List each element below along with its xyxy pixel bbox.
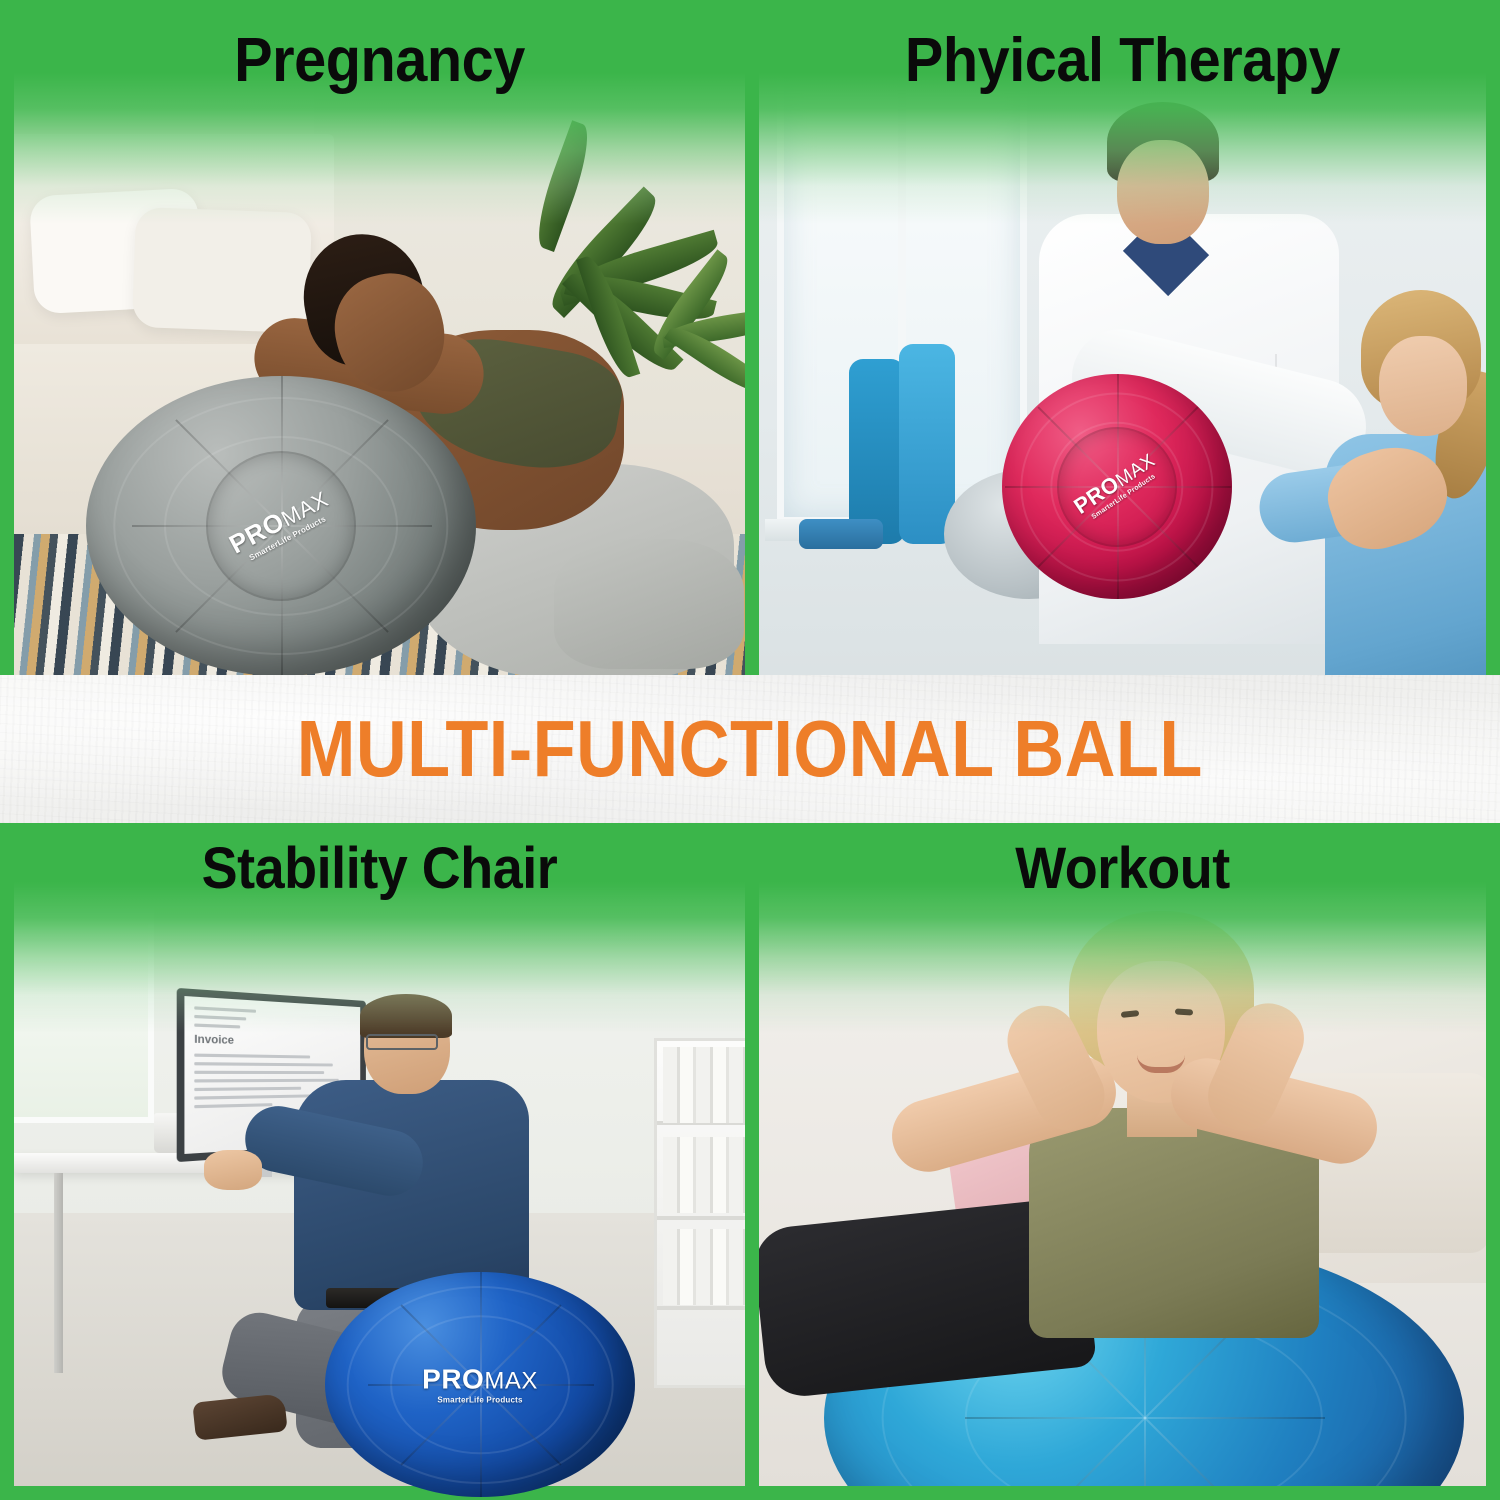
- yoga-mat: [849, 359, 905, 544]
- exercising-woman-figure: [869, 883, 1389, 1353]
- logo-tagline: SmarterLife Products: [422, 1395, 538, 1404]
- yoga-mat: [899, 344, 955, 544]
- therapist-hand-group: [1029, 54, 1359, 654]
- panel-title-pregnancy: Pregnancy: [40, 28, 720, 93]
- panel-physical-therapy: PROMAX SmarterLife Products Phyical Ther…: [759, 14, 1486, 675]
- logo-brand-bold: PRO: [422, 1363, 484, 1394]
- panel-title-stability-chair: Stability Chair: [40, 839, 720, 900]
- scene-living-room: PROMAX SmarterLife Products: [759, 823, 1486, 1486]
- headline-text: MULTI-FUNCTIONAL BALL: [297, 703, 1203, 795]
- headline-banner: MULTI-FUNCTIONAL BALL: [0, 675, 1500, 823]
- exercise-ball-gray: PROMAX SmarterLife Products: [86, 376, 476, 675]
- scene-bedroom: PROMAX SmarterLife Products: [14, 14, 745, 675]
- product-collage: PROMAX SmarterLife Products Pregnancy: [0, 0, 1500, 1500]
- window: [14, 863, 154, 1123]
- dumbbell-icon: [799, 519, 883, 549]
- panel-pregnancy: PROMAX SmarterLife Products Pregnancy: [14, 14, 745, 675]
- panel-title-physical-therapy: Phyical Therapy: [784, 28, 1460, 93]
- exercise-ball-blue: PROMAX SmarterLife Products: [325, 1272, 635, 1497]
- promax-logo: PROMAX SmarterLife Products: [422, 1365, 538, 1404]
- panel-workout: PROMAX SmarterLife Products Workout: [759, 823, 1486, 1486]
- logo-brand-light: MAX: [484, 1367, 538, 1394]
- eyeglasses-icon: [366, 1034, 438, 1050]
- panel-title-workout: Workout: [784, 839, 1460, 900]
- shelving-unit: [654, 1038, 745, 1388]
- scene-clinic: PROMAX SmarterLife Products: [759, 14, 1486, 675]
